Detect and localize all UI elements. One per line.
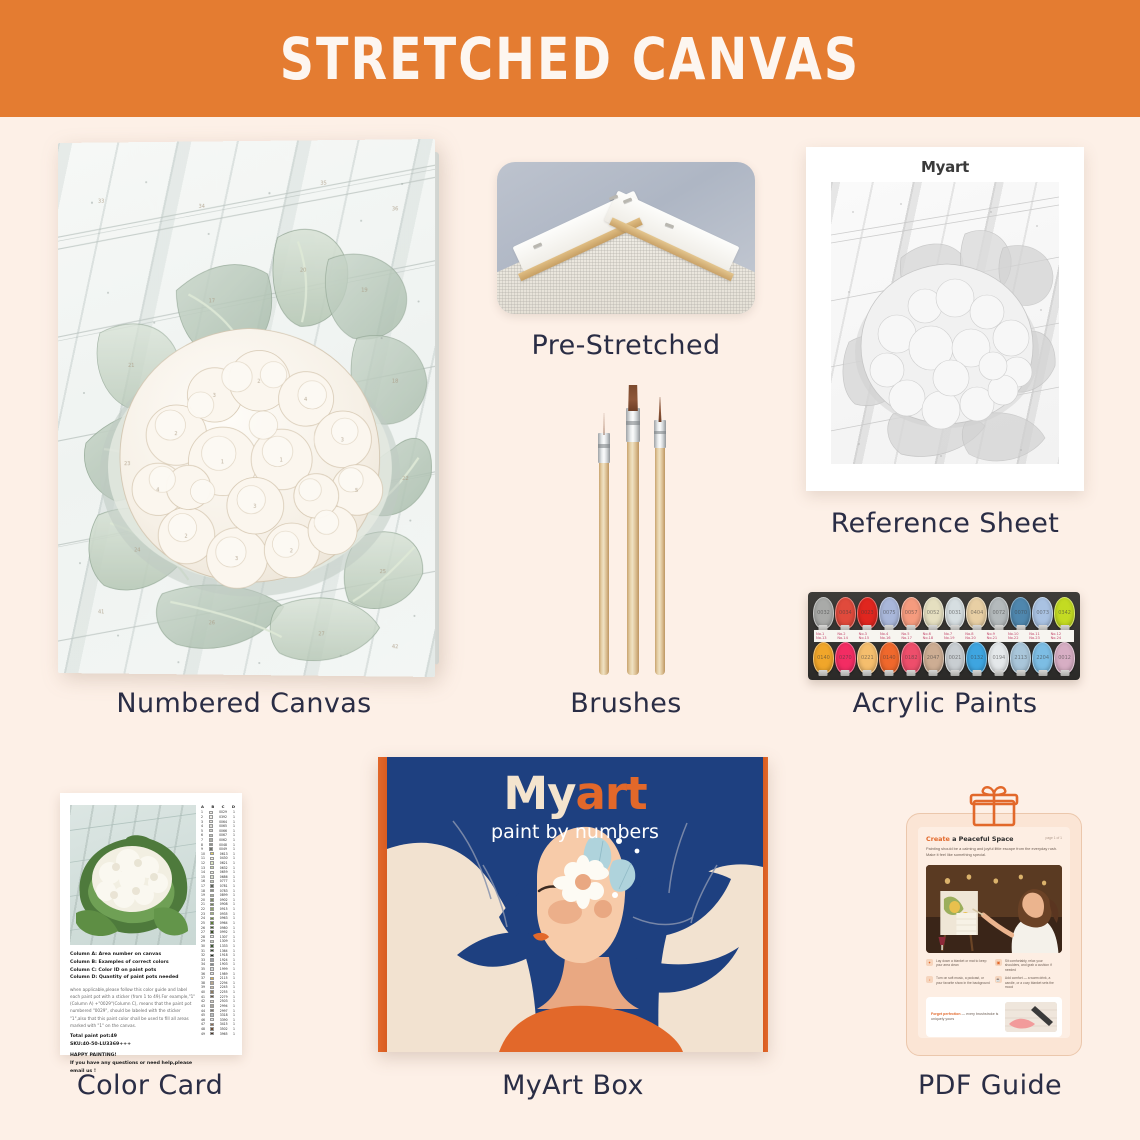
paint-pot-code: 0034 [836,598,855,628]
cc-color-id: 3965 [220,1032,228,1036]
brush-round-medium [655,403,665,675]
cc-area-number: 34 [201,962,205,966]
svg-text:26: 26 [209,620,215,626]
cc-color-id: 0964 [220,921,228,925]
paint-pot-code: 0342 [1055,598,1074,628]
svg-text:35: 35 [320,181,326,187]
cc-color-swatch [210,1000,214,1003]
brushes-image [575,385,695,675]
cc-color-id: 0902 [220,898,228,902]
pdf-guide-image: page 1 of 1 Create a Peaceful Space Pain… [906,813,1082,1056]
paint-row-bottom: 0140027002210140018220470021013201942113… [813,642,1075,674]
cc-color-id: 1924 [220,958,228,962]
paint-pot-code: 0032 [814,598,833,628]
cc-color-id: 0064 [219,820,227,824]
cc-color-swatch [210,1023,214,1026]
cc-quantity: 1 [233,898,235,902]
cc-color-id: 3415 [220,1022,228,1026]
cc-color-id: 1918 [220,953,228,957]
cc-area-number: 44 [201,1009,205,1013]
paint-pot: 0221 [857,642,878,674]
cc-quantity: 1 [233,815,235,819]
pdf-tip: ▣Sit comfortably, relax your shoulders, … [995,959,1059,973]
cc-color-swatch [210,894,214,897]
cc-area-number: 29 [201,939,205,943]
caption-reference-sheet: Reference Sheet [806,508,1084,539]
cc-color-id: 0915 [220,907,228,911]
svg-text:22: 22 [402,476,409,482]
cc-color-id: 0980 [220,926,228,930]
cc-area-number: 18 [201,889,205,893]
cc-color-swatch [209,815,213,818]
cc-area-number: 20 [201,898,205,902]
box-front-panel: Myart paint by numbers [387,757,763,1052]
cc-area-number: 11 [201,856,205,860]
cc-color-swatch [210,852,214,855]
caption-numbered-canvas: Numbered Canvas [58,688,430,719]
paint-pot-code: 0270 [836,643,855,673]
cc-area-number: 47 [201,1022,205,1026]
cc-area-number: 1 [201,810,203,814]
cc-area-number: 2 [201,815,203,819]
cc-color-swatch [210,1013,214,1016]
cc-quantity: 1 [233,875,235,879]
cc-quantity: 1 [233,884,235,888]
pdf-tip-text: Lay down a blanket or mat to keep your a… [936,959,990,973]
svg-text:24: 24 [134,547,140,553]
cc-quantity: 1 [233,1022,235,1026]
paint-label-strip: No.1No.2No.3No.4No.5No.6No.7No.8No.9No.1… [814,630,1074,642]
cc-color-id: 0686 [220,875,228,879]
paint-pot-code: 0012 [1055,643,1074,673]
svg-text:19: 19 [361,288,367,294]
cc-color-swatch [210,871,214,874]
svg-text:34: 34 [199,204,205,210]
box-logo: Myart [387,771,763,816]
paint-label-no: No.16 [880,636,901,640]
cc-area-number: 4 [201,824,203,828]
caption-color-card: Color Card [40,1070,260,1101]
cc-area-number: 35 [201,967,205,971]
cc-quantity: 1 [233,847,235,851]
cc-area-number: 16 [201,879,205,883]
cc-area-number: 37 [201,976,205,980]
cc-area-number: 39 [201,985,205,989]
cc-quantity: 1 [233,902,235,906]
svg-text:4: 4 [156,487,159,493]
paint-pot: 0132 [966,642,987,674]
cc-color-id: 0659 [220,870,228,874]
cc-quantity: 1 [233,995,235,999]
caption-brushes: Brushes [497,688,755,719]
cc-area-number: 23 [201,912,205,916]
cc-color-id: 1364 [220,949,228,953]
svg-text:3: 3 [213,393,216,399]
svg-text:20: 20 [300,268,306,274]
cc-color-id: 0067 [219,833,227,837]
seat-icon: ▣ [995,959,1002,966]
svg-text:3: 3 [235,556,238,562]
paint-pot-code: 0021 [946,643,965,673]
cc-area-number: 6 [201,833,203,837]
cc-color-swatch [209,834,213,837]
cc-color-swatch [210,917,214,920]
cc-color-id: 0783 [220,889,228,893]
happy-painting-text: HAPPY PAINTING! [70,1053,117,1058]
cauliflower-outline-art: 232 435 423 211 31720 192118 232422 2526… [58,139,435,677]
music-icon: ♪ [926,976,933,983]
paint-pot: 0270 [835,642,856,674]
svg-text:41: 41 [98,609,104,615]
cc-quantity: 1 [233,1032,235,1036]
cc-color-id: 0777 [220,879,228,883]
cc-area-number: 8 [201,843,203,847]
paint-pot-code: 0132 [967,643,986,673]
paint-label-no: No.20 [965,636,986,640]
cc-color-id: 2255 [220,990,228,994]
page-title: STRETCHED CANVAS [280,25,860,93]
cc-color-id: 3502 [220,1027,228,1031]
paint-pot: 0012 [1054,642,1075,674]
th-c: C [222,804,225,809]
paint-pot: 0032 [813,597,834,629]
sparkle-icon: ✦ [926,959,933,966]
cc-color-id: 3318 [220,1013,228,1017]
paint-pot-code: 0072 [989,598,1008,628]
cc-area-number: 12 [201,861,205,865]
paint-label-no: No.22 [1008,636,1029,640]
svg-text:25: 25 [380,569,387,575]
cc-color-swatch [209,820,213,823]
svg-text:27: 27 [318,631,324,637]
pdf-title-accent: Create [926,835,950,843]
cc-color-swatch [210,972,214,975]
pdf-tip-text: Sit comfortably, relax your shoulders, a… [1005,959,1059,973]
total-paint-pot: Total paint pot:49 [70,1034,117,1039]
caption-myart-box: MyArt Box [378,1070,768,1101]
cc-color-swatch [209,847,213,850]
cc-area-number: 46 [201,1018,205,1022]
cc-color-swatch [210,944,214,947]
cc-quantity: 1 [233,1004,235,1008]
cc-quantity: 1 [233,972,235,976]
svg-text:21: 21 [128,363,134,369]
cc-color-id: 3390 [220,1018,228,1022]
paint-pot: 0023 [857,597,878,629]
color-card-image: Column A: Area number on canvas Column B… [60,793,242,1055]
cc-color-swatch [210,1027,214,1030]
cup-icon: ☕ [995,976,1002,983]
brush-flat-large [627,387,639,675]
legend-line-a: Column A: Area number on canvas [70,952,161,957]
pdf-footer-thumb [1005,1002,1057,1032]
cc-color-id: 0621 [220,861,228,865]
color-card-photo [70,805,196,945]
cc-color-id: 0613 [220,852,228,856]
svg-text:18: 18 [392,379,399,385]
cc-color-swatch [209,843,213,846]
cc-color-swatch [210,866,214,869]
svg-text:36: 36 [392,206,399,212]
cc-color-swatch [210,995,214,998]
cc-quantity: 1 [233,916,235,920]
cc-quantity: 1 [233,820,235,824]
cc-quantity: 1 [233,976,235,980]
cc-quantity: 1 [233,953,235,957]
paint-label-no: No.18 [923,636,944,640]
cc-color-id: 1307 [220,935,228,939]
cc-color-swatch [210,1032,214,1035]
cc-quantity: 1 [233,939,235,943]
cc-quantity: 1 [233,843,235,847]
cc-quantity: 1 [233,870,235,874]
cc-color-swatch [210,963,214,966]
cc-area-number: 27 [201,930,205,934]
pdf-hero-photo [926,865,1062,953]
paint-label-no: No.19 [944,636,965,640]
acrylic-paints-image: 0032003400230075005700520031040400720070… [808,592,1080,680]
cc-quantity: 1 [233,967,235,971]
cc-quantity: 1 [233,912,235,916]
pdf-tip: ✦Lay down a blanket or mat to keep your … [926,959,990,973]
pdf-page-number: page 1 of 1 [1046,836,1063,840]
cc-area-number: 7 [201,838,203,842]
th-b: B [211,804,214,809]
color-card-legend: Column A: Area number on canvas Column B… [70,951,198,1076]
paint-pot-code: 0052 [924,598,943,628]
paint-pot-code: 0057 [902,598,921,628]
svg-text:17: 17 [209,298,215,304]
cc-color-id: 2245 [220,985,228,989]
cc-area-number: 3 [201,820,203,824]
color-card-table: A B C D 10029120392130064140065150066160… [200,804,236,1048]
cc-quantity: 1 [233,810,235,814]
cc-color-swatch [209,811,213,814]
paint-pot: 0073 [1032,597,1053,629]
cc-area-number: 25 [201,921,205,925]
cc-color-swatch [210,903,214,906]
cc-quantity: 1 [233,981,235,985]
paint-pot-code: 0075 [880,598,899,628]
cc-quantity: 1 [233,829,235,833]
paint-row-top: 0032003400230075005700520031040400720070… [813,597,1075,629]
paint-label-no: No.17 [901,636,922,640]
cc-area-number: 19 [201,893,205,897]
cc-color-id: 0062 [219,838,227,842]
box-edge-right [763,757,768,1052]
myart-logo-text: Myart [806,158,1084,176]
paint-pot-code: 0023 [858,598,877,628]
paint-pot: 2204 [1032,642,1053,674]
cc-color-id: 0935 [220,912,228,916]
cc-color-swatch [209,838,213,841]
product-infographic: STRETCHED CANVAS [0,0,1140,1140]
cc-area-number: 42 [201,999,205,1003]
pdf-tip: ♪Turn on soft music, a podcast, or your … [926,976,990,990]
cc-color-swatch [210,954,214,957]
cc-area-number: 36 [201,972,205,976]
paint-pot: 0057 [901,597,922,629]
cc-color-swatch [210,949,214,952]
paint-pot: 0140 [813,642,834,674]
paint-pot-code: 0221 [858,643,877,673]
svg-text:3: 3 [341,437,344,443]
gift-icon [907,783,1081,832]
svg-text:23: 23 [124,461,130,467]
cc-color-swatch [210,926,214,929]
cc-quantity: 1 [233,962,235,966]
pdf-page-content: page 1 of 1 Create a Peaceful Space Pain… [918,827,1070,1038]
cc-quantity: 1 [233,861,235,865]
cc-color-swatch [210,898,214,901]
cc-color-id: 1999 [220,967,228,971]
svg-text:33: 33 [98,199,104,205]
paint-pot: 2047 [923,642,944,674]
cc-color-id: 0065 [219,824,227,828]
cc-quantity: 1 [233,852,235,856]
cc-color-id: 2115 [220,976,228,980]
svg-text:1: 1 [280,457,283,463]
paint-pot-code: 0070 [1011,598,1030,628]
pdf-tips-list: ✦Lay down a blanket or mat to keep your … [926,959,1062,991]
paint-label-no: No.13 [816,636,837,640]
cc-color-id: 0066 [219,829,227,833]
svg-text:1: 1 [221,459,224,465]
cc-color-swatch [210,1009,214,1012]
cc-color-swatch [210,986,214,989]
pdf-title-rest: a Peaceful Space [950,835,1014,843]
paint-pot-code: 0404 [967,598,986,628]
svg-text:5: 5 [355,488,358,494]
th-d: D [232,804,235,809]
cc-color-id: 0049 [219,847,227,851]
cc-color-swatch [210,940,214,943]
cc-area-number: 13 [201,866,205,870]
paint-label-no: No.15 [859,636,880,640]
cc-color-id: 2279 [220,995,228,999]
cc-color-swatch [210,912,214,915]
svg-text:42: 42 [392,644,399,650]
paint-pot: 0404 [966,597,987,629]
box-logo-my: My [503,767,575,820]
cc-color-id: 2294 [220,981,228,985]
header-banner: STRETCHED CANVAS [0,0,1140,117]
svg-text:4: 4 [304,397,307,403]
paint-pot-code: 0073 [1033,598,1052,628]
cc-quantity: 1 [233,935,235,939]
cc-quantity: 1 [233,1027,235,1031]
paint-label-no: No.14 [837,636,858,640]
paint-pot: 0194 [988,642,1009,674]
cc-color-swatch [210,967,214,970]
pdf-footer-note: Forget perfection — every brushstroke is… [926,997,1062,1037]
cc-quantity: 1 [233,999,235,1003]
cc-quantity: 1 [233,990,235,994]
paint-pot: 2113 [1010,642,1031,674]
legend-line-c: Column C: Color ID on paint pots [70,968,156,973]
cc-color-swatch [210,907,214,910]
caption-pdf-guide: PDF Guide [880,1070,1100,1101]
cc-area-number: 31 [201,949,205,953]
pdf-footer-accent: Forget perfection [931,1012,961,1016]
paint-pot-code: 0194 [989,643,1008,673]
pdf-tip: ☕Add comfort — a warm drink, a candle, o… [995,976,1059,990]
cc-area-number: 45 [201,1013,205,1017]
cc-area-number: 33 [201,958,205,962]
cc-color-swatch [210,875,214,878]
numbered-canvas-image: 232 435 423 211 31720 192118 232422 2526… [58,143,430,673]
paint-pot-code: 2113 [1011,643,1030,673]
reference-sheet-image: Myart [806,147,1084,491]
cc-color-swatch [210,1004,214,1007]
cc-area-number: 9 [201,847,203,851]
cc-area-number: 43 [201,1004,205,1008]
sku-code: SKU:40-50-LU3369+++ [70,1042,131,1047]
pdf-subtitle: Painting should be a calming and joyful … [926,846,1062,859]
cc-area-number: 32 [201,953,205,957]
cc-color-swatch [210,958,214,961]
cc-color-id: 0430 [220,856,228,860]
cc-color-swatch [210,990,214,993]
cc-area-number: 17 [201,884,205,888]
cc-color-id: 0029 [219,810,227,814]
cc-area-number: 26 [201,926,205,930]
paint-pot: 0140 [879,642,900,674]
paint-pot-code: 2204 [1033,643,1052,673]
cc-area-number: 5 [201,829,203,833]
cc-color-id: 0392 [219,815,227,819]
cc-quantity: 1 [233,1009,235,1013]
cc-color-swatch [209,824,213,827]
cc-color-id: 1333 [220,944,228,948]
cc-color-id: 0992 [220,930,228,934]
svg-text:2: 2 [257,379,260,385]
cc-color-swatch [210,889,214,892]
cc-quantity: 1 [233,944,235,948]
paint-pot-code: 2047 [924,643,943,673]
cc-color-id: 0048 [219,843,227,847]
pdf-title: Create a Peaceful Space [926,835,1062,843]
caption-pre-stretched: Pre-Stretched [497,330,755,361]
cc-quantity: 1 [233,824,235,828]
cc-color-swatch [210,977,214,980]
cc-quantity: 1 [233,921,235,925]
cc-area-number: 24 [201,916,205,920]
paint-label-no: No.23 [1029,636,1050,640]
cc-color-id: 2503 [220,999,228,1003]
cc-color-swatch [210,884,214,887]
paint-pot: 0031 [945,597,966,629]
cc-color-swatch [210,930,214,933]
cc-quantity: 1 [233,907,235,911]
cc-quantity: 1 [233,889,235,893]
cc-quantity: 1 [233,1018,235,1022]
legend-line-d: Column D: Quantity of paint pots needed [70,975,179,980]
cc-color-id: 0963 [220,916,228,920]
cc-quantity: 1 [233,879,235,883]
cc-quantity: 1 [233,838,235,842]
cc-color-swatch [210,861,214,864]
cc-color-swatch [210,935,214,938]
cc-color-swatch [209,829,213,832]
svg-text:2: 2 [290,548,293,554]
paint-pot: 0182 [901,642,922,674]
paint-pot: 0070 [1010,597,1031,629]
paint-pot-code: 0140 [880,643,899,673]
box-logo-art: art [576,767,647,820]
paint-pot: 0342 [1054,597,1075,629]
paint-pot: 0021 [945,642,966,674]
